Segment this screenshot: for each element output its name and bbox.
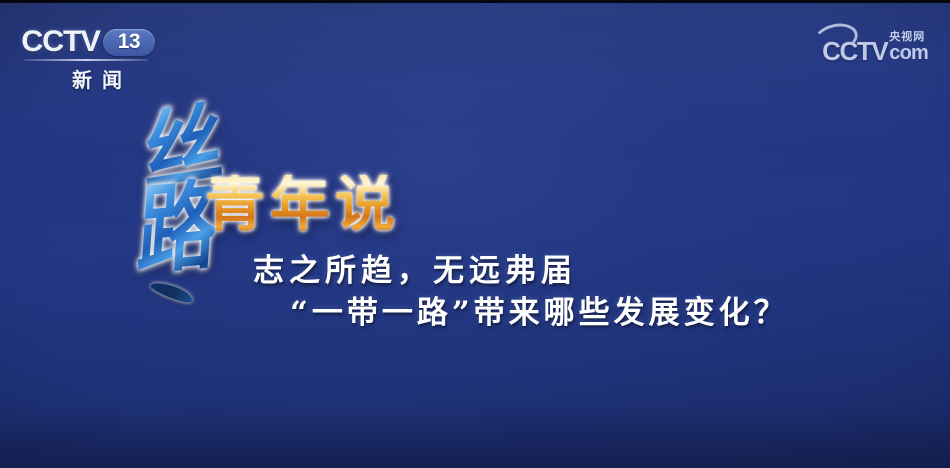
bottom-fade-overlay [0, 406, 950, 468]
channel-number-badge: 13 [103, 29, 155, 56]
top-letterbox-bar [0, 0, 950, 3]
subtitle-line-2: “一带一路”带来哪些发展变化？ [290, 296, 789, 330]
channel-bug-cctv13: CCTV 13 新闻 [22, 27, 172, 93]
web-bug-site-name-cn: 央视网 [889, 31, 925, 42]
channel-bug-underline [24, 59, 148, 61]
program-title-gold: 青年说 [205, 175, 400, 235]
cctv-wordmark: CCTV [21, 27, 99, 57]
broadcast-title-card: CCTV 13 新闻 CCTV 央视网 com 丝 路 青年说 志之所趋，无远弗… [0, 0, 950, 468]
web-bug-right-stack: 央视网 com [889, 31, 928, 63]
web-bug-domain: com [889, 43, 928, 63]
channel-bug-row: CCTV 13 [22, 27, 172, 57]
subtitle-line-1: 志之所趋，无远弗届 [253, 254, 577, 288]
channel-name-label: 新闻 [22, 64, 172, 93]
